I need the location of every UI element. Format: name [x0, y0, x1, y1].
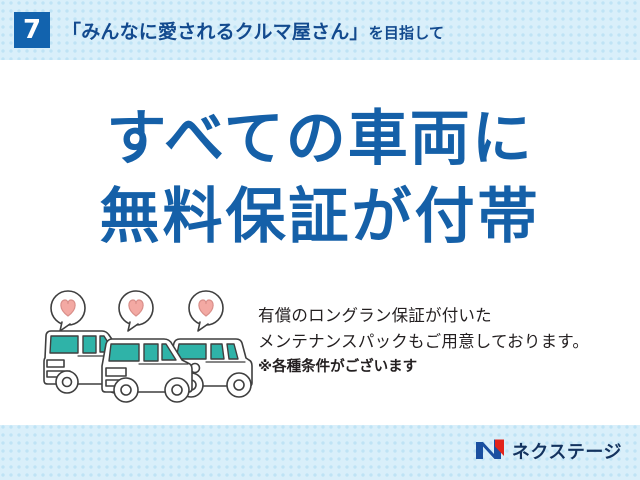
brand-lockup: ネクステージ	[475, 437, 622, 465]
header-title-prefix: 「みんなに愛されるクルマ屋さん」	[62, 21, 369, 43]
slide-footer: ネクステージ	[0, 425, 640, 480]
body-copy: 有償のロングラン保証が付いた メンテナンスパックもご用意しております。 ※各種条…	[258, 303, 628, 380]
body-line-2: メンテナンスパックもご用意しております。	[258, 329, 628, 355]
headline-line-1: すべての車両に	[0, 100, 640, 178]
heart-bubble-1	[51, 291, 85, 331]
heart-bubble-2	[119, 291, 153, 331]
header-title: 「みんなに愛されるクルマ屋さん」を目指して	[62, 17, 444, 44]
nexstage-n-logo-icon	[475, 437, 505, 465]
slide-canvas: 7 「みんなに愛されるクルマ屋さん」を目指して すべての車両に 無料保証が付帯	[0, 0, 640, 480]
content-panel: すべての車両に 無料保証が付帯	[0, 60, 640, 425]
brand-name: ネクステージ	[512, 438, 622, 464]
header-title-suffix: を目指して	[369, 24, 445, 42]
headline: すべての車両に 無料保証が付帯	[0, 100, 640, 256]
body-line-1: 有償のロングラン保証が付いた	[258, 303, 628, 329]
slide-header: 7 「みんなに愛されるクルマ屋さん」を目指して	[0, 0, 640, 60]
headline-line-2: 無料保証が付帯	[0, 178, 640, 256]
section-number-badge: 7	[14, 12, 50, 48]
body-note: ※各種条件がございます	[258, 355, 628, 380]
cars-illustration	[40, 288, 255, 408]
heart-bubble-3	[189, 291, 223, 331]
